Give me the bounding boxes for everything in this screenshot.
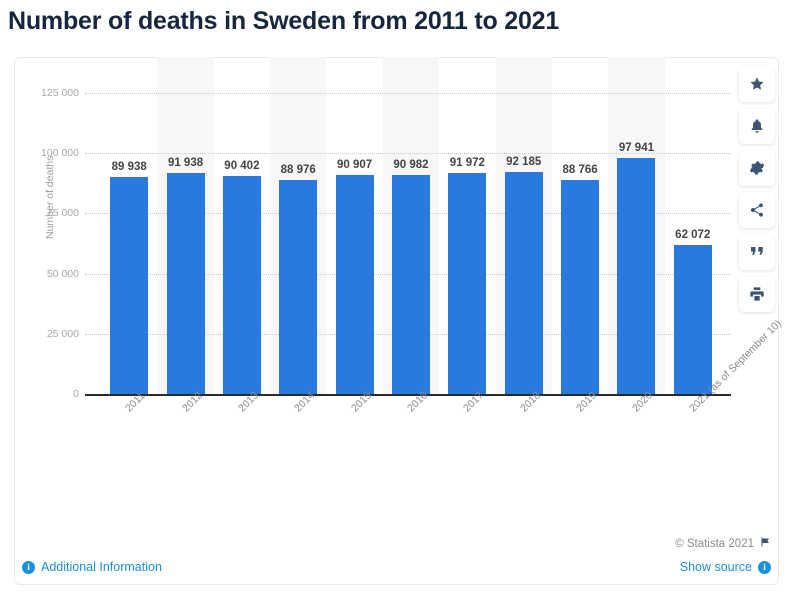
x-axis-tick: 2017 (439, 394, 495, 514)
y-axis-tick-label: 25 000 (47, 328, 79, 340)
notifications-button[interactable] (739, 108, 775, 144)
y-axis-tick-label: 50 000 (47, 268, 79, 280)
gear-icon (749, 160, 765, 176)
bar[interactable] (167, 173, 205, 394)
additional-information-link[interactable]: i Additional Information (22, 560, 162, 574)
bar-value-label: 90 402 (224, 160, 259, 172)
bar[interactable] (674, 245, 712, 394)
x-axis-tick-label: 2014 (292, 389, 317, 414)
x-axis-tick: 2016 (383, 394, 439, 514)
info-icon: i (22, 561, 35, 574)
additional-information-label: Additional Information (41, 560, 162, 574)
bar-value-label: 88 766 (562, 164, 597, 176)
x-axis-tick-label: 2019 (574, 389, 599, 414)
y-axis-tick-label: 75 000 (47, 207, 79, 219)
favorite-button[interactable] (739, 66, 775, 102)
bar-column[interactable]: 92 185 (496, 93, 552, 394)
citation-button[interactable] (739, 234, 775, 270)
x-axis-tick-label: 2018 (518, 389, 543, 414)
y-axis-tick-label: 100 000 (41, 147, 79, 159)
bar[interactable] (617, 158, 655, 394)
x-axis-tick: 2012 (157, 394, 213, 514)
x-axis-tick-label: 2011 (123, 390, 147, 414)
x-axis-tick: 2019 (552, 394, 608, 514)
show-source-label: Show source (680, 560, 752, 574)
bar-value-label: 97 941 (619, 142, 654, 154)
bell-icon (749, 118, 765, 134)
bar[interactable] (279, 180, 317, 394)
x-axis-tick-label: 2020 (630, 389, 655, 414)
bar-value-label: 91 972 (450, 157, 485, 169)
bar-value-label: 92 185 (506, 156, 541, 168)
x-axis-tick: 2013 (214, 394, 270, 514)
x-axis-tick: 2020 (608, 394, 664, 514)
bar-column[interactable]: 90 907 (326, 93, 382, 394)
bar-value-label: 62 072 (675, 229, 710, 241)
star-icon (749, 76, 765, 92)
bar-column[interactable]: 88 766 (552, 93, 608, 394)
x-axis-tick-label: 2013 (236, 389, 261, 414)
x-axis-tick-label: 2016 (405, 389, 430, 414)
x-axis-tick: 2011 (101, 394, 157, 514)
plot-area: 025 00050 00075 000100 000125 000 89 938… (101, 93, 721, 394)
bar-column[interactable]: 97 941 (608, 93, 664, 394)
copyright-text: © Statista 2021 (675, 538, 754, 550)
y-axis-tick-label: 0 (73, 388, 79, 400)
print-button[interactable] (739, 276, 775, 312)
bar-column[interactable]: 89 938 (101, 93, 157, 394)
show-source-link[interactable]: Show source i (680, 560, 771, 574)
x-axis-tick-label: 2017 (461, 389, 486, 414)
y-axis-label: Number of deaths (44, 156, 56, 239)
bar-column[interactable]: 90 402 (214, 93, 270, 394)
bar[interactable] (448, 173, 486, 394)
x-axis-tick-label: 2015 (349, 389, 374, 414)
share-button[interactable] (739, 192, 775, 228)
bar[interactable] (561, 180, 599, 394)
bar[interactable] (110, 177, 148, 394)
bar-column[interactable]: 90 982 (383, 93, 439, 394)
x-axis-tick: 2018 (496, 394, 552, 514)
bar-value-label: 89 938 (112, 161, 147, 173)
flag-icon[interactable] (759, 536, 771, 551)
bar-column[interactable]: 91 972 (439, 93, 495, 394)
bar-column[interactable]: 91 938 (157, 93, 213, 394)
bar-value-label: 90 982 (393, 159, 428, 171)
bar[interactable] (223, 176, 261, 394)
bar-value-label: 91 938 (168, 157, 203, 169)
x-axis-ticks: 2011201220132014201520162017201820192020… (101, 394, 721, 514)
page-title: Number of deaths in Sweden from 2011 to … (8, 4, 768, 38)
y-axis-tick-label: 125 000 (41, 87, 79, 99)
share-icon (749, 202, 765, 218)
settings-button[interactable] (739, 150, 775, 186)
bar-value-label: 90 907 (337, 159, 372, 171)
x-axis-tick: 2015 (326, 394, 382, 514)
bar[interactable] (505, 172, 543, 394)
bar-column[interactable]: 88 976 (270, 93, 326, 394)
bar[interactable] (336, 175, 374, 394)
bar-column[interactable]: 62 072 (665, 93, 721, 394)
bar-series: 89 93891 93890 40288 97690 90790 98291 9… (101, 93, 721, 394)
copyright: © Statista 2021 (675, 536, 771, 551)
bar[interactable] (392, 175, 430, 394)
bar-value-label: 88 976 (281, 164, 316, 176)
x-axis-tick-label: 2012 (180, 389, 205, 414)
x-axis-tick: 2021 (as of September 10) (665, 394, 721, 514)
print-icon (749, 286, 765, 302)
quote-icon (749, 244, 765, 260)
chart-toolbar (739, 66, 775, 312)
x-axis-tick: 2014 (270, 394, 326, 514)
info-icon: i (758, 561, 771, 574)
